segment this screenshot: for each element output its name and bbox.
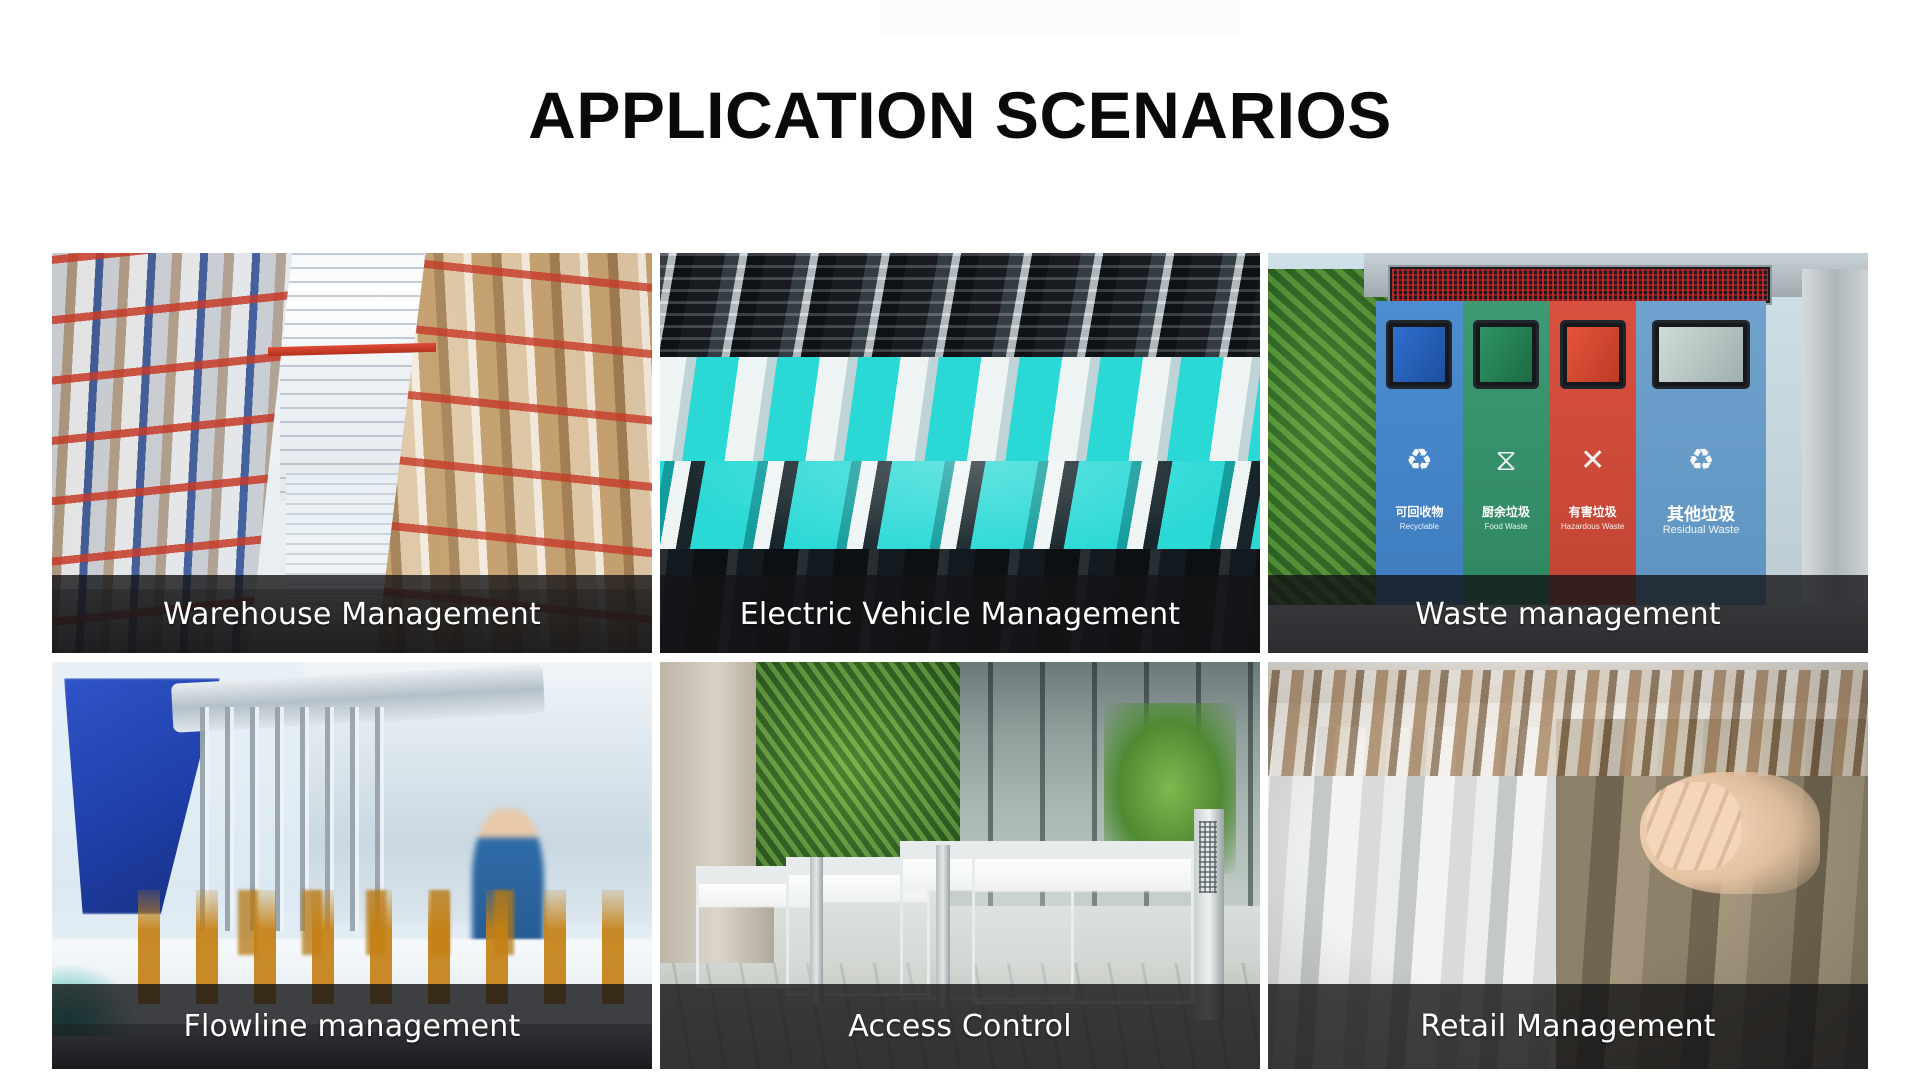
scenario-card-retail-management[interactable]: Retail Management	[1268, 662, 1868, 1069]
bin-food-waste: ⧖ 厨余垃圾 Food Waste	[1463, 301, 1550, 617]
card-label-text: Warehouse Management	[163, 597, 541, 632]
top-whitespace-artifact	[880, 0, 1240, 34]
scenario-card-electric-vehicle-management[interactable]: Electric Vehicle Management	[660, 253, 1260, 653]
card-label-access-control: Access Control	[660, 984, 1260, 1069]
application-scenarios-page: APPLICATION SCENARIOS Warehouse Manageme…	[0, 0, 1920, 1079]
card-label-text: Flowline management	[184, 1009, 521, 1044]
bin-hazardous-waste: ✕ 有害垃圾 Hazardous Waste	[1549, 301, 1636, 617]
bin-hatch	[1652, 320, 1751, 390]
hazard-cross-icon: ✕	[1549, 446, 1636, 476]
scenario-card-grid: Warehouse Management Electric Vehicle Ma…	[52, 253, 1868, 1073]
bin-label-en: Recyclable	[1376, 522, 1463, 531]
card-label-retail-management: Retail Management	[1268, 984, 1868, 1069]
hourglass-icon: ⧖	[1463, 446, 1550, 476]
bin-hatch	[1560, 320, 1626, 390]
turnstile-post-1	[810, 857, 823, 1004]
recycling-bin-row: ♻ 可回收物 Recyclable ⧖ 厨余垃圾 Food Waste ✕ 有害…	[1376, 301, 1766, 617]
bin-hatch	[1386, 320, 1452, 390]
bin-label-en: Hazardous Waste	[1549, 522, 1636, 531]
bin-recyclable: ♻ 可回收物 Recyclable	[1376, 301, 1463, 617]
card-label-text: Waste management	[1415, 597, 1721, 632]
scenario-card-access-control[interactable]: Access Control	[660, 662, 1260, 1069]
bin-residual-waste: ♻ 其他垃圾 Residual Waste	[1636, 301, 1766, 617]
bin-label-cn: 其他垃圾	[1636, 500, 1766, 525]
turnstile-gate-4	[972, 841, 1194, 1004]
card-label-electric-vehicle-management: Electric Vehicle Management	[660, 575, 1260, 653]
bin-label-cn: 有害垃圾	[1549, 503, 1636, 520]
station-side-pillar	[1802, 269, 1868, 621]
card-label-text: Electric Vehicle Management	[740, 597, 1181, 632]
scooter-baskets	[660, 253, 1260, 373]
bin-label-cn: 可回收物	[1376, 503, 1463, 520]
card-label-waste-management: Waste management	[1268, 575, 1868, 653]
scenario-card-warehouse-management[interactable]: Warehouse Management	[52, 253, 652, 653]
bin-label-en: Food Waste	[1463, 522, 1550, 531]
bin-hatch	[1473, 320, 1539, 390]
page-title: APPLICATION SCENARIOS	[0, 78, 1920, 152]
recycle-icon: ♻	[1376, 446, 1463, 476]
card-label-text: Access Control	[848, 1009, 1071, 1044]
scenario-card-waste-management[interactable]: ♻ 可回收物 Recyclable ⧖ 厨余垃圾 Food Waste ✕ 有害…	[1268, 253, 1868, 653]
bin-label-cn: 厨余垃圾	[1463, 503, 1550, 520]
card-label-flowline-management: Flowline management	[52, 984, 652, 1069]
card-label-warehouse-management: Warehouse Management	[52, 575, 652, 653]
card-label-text: Retail Management	[1420, 1009, 1715, 1044]
scenario-card-flowline-management[interactable]: Flowline management	[52, 662, 652, 1069]
bin-label-en: Residual Waste	[1636, 524, 1766, 536]
residual-waste-icon: ♻	[1636, 446, 1766, 476]
led-display-panel	[1388, 265, 1772, 305]
